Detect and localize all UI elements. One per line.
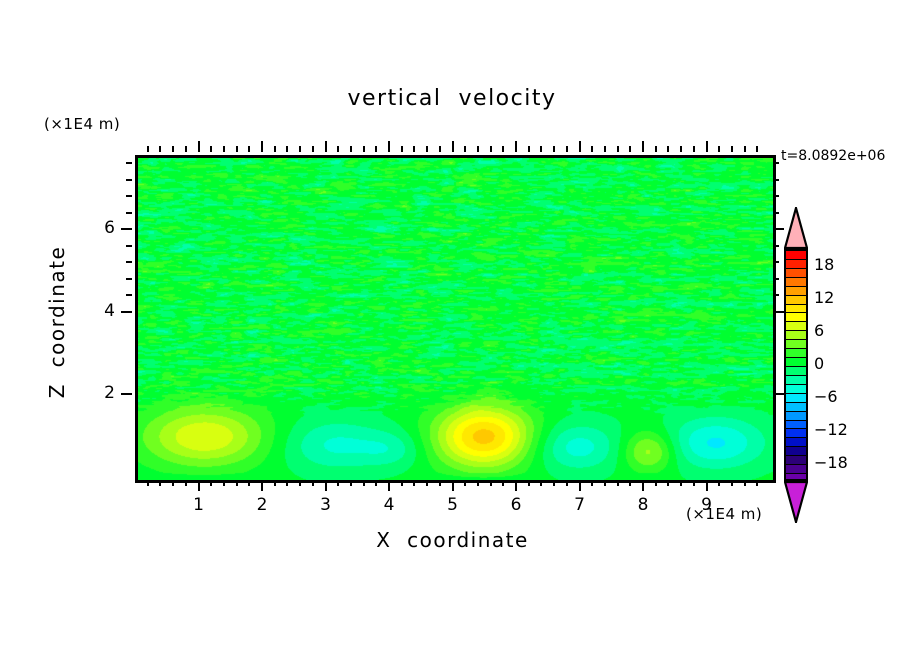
x-axis-minor-tick-top bbox=[464, 146, 466, 152]
x-axis-minor-tick-top bbox=[363, 146, 365, 152]
colorbar-band bbox=[786, 394, 806, 403]
x-axis-tick bbox=[198, 480, 200, 491]
x-axis-minor-tick-top bbox=[502, 146, 504, 152]
x-axis-tick-top bbox=[706, 141, 708, 152]
y-axis-tick-label: 4 bbox=[81, 301, 115, 321]
y-axis-tick bbox=[121, 393, 132, 395]
y-axis-minor-tick bbox=[126, 294, 132, 296]
x-axis-minor-tick bbox=[502, 480, 504, 486]
y-axis-minor-tick-right bbox=[773, 212, 779, 214]
x-axis-minor-tick-top bbox=[528, 146, 530, 152]
colorbar-band bbox=[786, 269, 806, 278]
x-axis-minor-tick-top bbox=[667, 146, 669, 152]
x-axis-minor-tick bbox=[566, 480, 568, 486]
x-axis-tick bbox=[452, 480, 454, 491]
y-axis-minor-tick-right bbox=[773, 179, 779, 181]
x-axis-tick bbox=[706, 480, 708, 491]
x-axis-minor-tick bbox=[274, 480, 276, 486]
x-axis-tick bbox=[261, 480, 263, 491]
x-axis-minor-tick-top bbox=[185, 146, 187, 152]
y-axis-minor-tick bbox=[126, 212, 132, 214]
x-axis-minor-tick bbox=[236, 480, 238, 486]
x-axis-minor-tick-top bbox=[680, 146, 682, 152]
x-axis-minor-tick-top bbox=[210, 146, 212, 152]
x-axis-minor-tick-top bbox=[147, 146, 149, 152]
x-axis-minor-tick bbox=[426, 480, 428, 486]
colorbar: 181260−6−12−18 bbox=[780, 205, 904, 525]
colorbar-band bbox=[786, 322, 806, 331]
colorbar-band bbox=[786, 251, 806, 260]
x-axis-tick-label: 3 bbox=[306, 495, 346, 515]
x-axis-minor-tick-top bbox=[274, 146, 276, 152]
x-axis-tick-label: 7 bbox=[560, 495, 600, 515]
x-axis-tick bbox=[325, 480, 327, 491]
x-axis-minor-tick-top bbox=[413, 146, 415, 152]
x-axis-tick bbox=[515, 480, 517, 491]
x-axis-tick bbox=[579, 480, 581, 491]
x-axis-tick-label: 9 bbox=[687, 495, 727, 515]
colorbar-band bbox=[786, 260, 806, 269]
y-axis-title: Z coordinate bbox=[45, 242, 69, 402]
x-axis-title: X coordinate bbox=[135, 528, 770, 552]
x-axis-tick-top bbox=[579, 141, 581, 152]
x-axis-tick-label: 6 bbox=[496, 495, 536, 515]
y-axis-minor-tick bbox=[126, 245, 132, 247]
x-axis-minor-tick-top bbox=[756, 146, 758, 152]
x-axis-tick-top bbox=[642, 141, 644, 152]
x-axis-minor-tick-top bbox=[401, 146, 403, 152]
x-axis-minor-tick bbox=[731, 480, 733, 486]
x-axis-minor-tick-top bbox=[236, 146, 238, 152]
x-axis-tick-label: 2 bbox=[242, 495, 282, 515]
x-axis-minor-tick bbox=[756, 480, 758, 486]
x-axis-tick-top bbox=[261, 141, 263, 152]
colorbar-band bbox=[786, 331, 806, 340]
x-axis-minor-tick bbox=[591, 480, 593, 486]
y-axis-minor-tick bbox=[126, 261, 132, 263]
colorbar-band bbox=[786, 296, 806, 305]
x-axis-minor-tick bbox=[413, 480, 415, 486]
velocity-field-heatmap bbox=[138, 158, 773, 480]
x-axis-minor-tick-top bbox=[299, 146, 301, 152]
x-axis-minor-tick bbox=[248, 480, 250, 486]
x-axis-minor-tick bbox=[667, 480, 669, 486]
colorbar-band bbox=[786, 474, 806, 481]
y-axis-minor-tick-right bbox=[773, 261, 779, 263]
x-axis-minor-tick-top bbox=[286, 146, 288, 152]
y-axis-tick-label: 6 bbox=[81, 218, 115, 238]
y-axis-minor-tick-right bbox=[773, 245, 779, 247]
x-axis-minor-tick bbox=[223, 480, 225, 486]
page-title: vertical velocity bbox=[0, 86, 904, 111]
x-axis-tick-top bbox=[388, 141, 390, 152]
x-axis-minor-tick-top bbox=[566, 146, 568, 152]
y-axis-unit-label: (×1E4 m) bbox=[44, 115, 120, 133]
x-axis-minor-tick bbox=[363, 480, 365, 486]
x-axis-tick-top bbox=[198, 141, 200, 152]
y-axis-minor-tick bbox=[126, 278, 132, 280]
colorbar-tick-label: −6 bbox=[814, 387, 838, 406]
x-axis-tick-top bbox=[452, 141, 454, 152]
x-axis-minor-tick-top bbox=[350, 146, 352, 152]
x-axis-minor-tick-top bbox=[655, 146, 657, 152]
x-axis-minor-tick bbox=[210, 480, 212, 486]
colorbar-band bbox=[786, 421, 806, 430]
x-axis-minor-tick bbox=[299, 480, 301, 486]
x-axis-minor-tick-top bbox=[693, 146, 695, 152]
x-axis-minor-tick-top bbox=[248, 146, 250, 152]
colorbar-band bbox=[786, 287, 806, 296]
x-axis-minor-tick bbox=[172, 480, 174, 486]
colorbar-band bbox=[786, 358, 806, 367]
x-axis-minor-tick-top bbox=[744, 146, 746, 152]
y-axis-minor-tick-right bbox=[773, 195, 779, 197]
y-axis-minor-tick bbox=[126, 162, 132, 164]
x-axis-minor-tick bbox=[680, 480, 682, 486]
colorbar-band bbox=[786, 429, 806, 438]
colorbar-band bbox=[786, 376, 806, 385]
colorbar-over-arrow-icon bbox=[784, 207, 808, 249]
colorbar-band bbox=[786, 456, 806, 465]
x-axis-minor-tick bbox=[286, 480, 288, 486]
x-axis-minor-tick-top bbox=[629, 146, 631, 152]
colorbar-band bbox=[786, 305, 806, 314]
y-axis-minor-tick bbox=[126, 195, 132, 197]
colorbar-band bbox=[786, 403, 806, 412]
x-axis-tick bbox=[388, 480, 390, 491]
x-axis-minor-tick-top bbox=[591, 146, 593, 152]
x-axis-minor-tick-top bbox=[439, 146, 441, 152]
colorbar-tick-label: 18 bbox=[814, 255, 834, 274]
colorbar-band bbox=[786, 385, 806, 394]
x-axis-minor-tick-top bbox=[553, 146, 555, 152]
y-axis-tick bbox=[121, 228, 132, 230]
x-axis-minor-tick bbox=[744, 480, 746, 486]
x-axis-minor-tick bbox=[528, 480, 530, 486]
x-axis-minor-tick-top bbox=[312, 146, 314, 152]
colorbar-tick-label: −12 bbox=[814, 420, 848, 439]
x-axis-minor-tick bbox=[375, 480, 377, 486]
x-axis-tick-label: 4 bbox=[369, 495, 409, 515]
time-annotation: t=8.0892e+06 bbox=[781, 148, 885, 164]
colorbar-tick-label: −18 bbox=[814, 453, 848, 472]
x-axis-minor-tick bbox=[655, 480, 657, 486]
y-axis-minor-tick-right bbox=[773, 278, 779, 280]
y-axis-tick-label: 2 bbox=[81, 383, 115, 403]
contour-plot-area bbox=[135, 155, 776, 483]
x-axis-minor-tick bbox=[490, 480, 492, 486]
x-axis-minor-tick-top bbox=[540, 146, 542, 152]
colorbar-band bbox=[786, 465, 806, 474]
x-axis-minor-tick-top bbox=[477, 146, 479, 152]
colorbar-band bbox=[786, 313, 806, 322]
x-axis-minor-tick bbox=[718, 480, 720, 486]
colorbar-band bbox=[786, 412, 806, 421]
x-axis-minor-tick bbox=[185, 480, 187, 486]
x-axis-tick-top bbox=[515, 141, 517, 152]
x-axis-tick-label: 5 bbox=[433, 495, 473, 515]
x-axis-minor-tick-top bbox=[718, 146, 720, 152]
y-axis-minor-tick-right bbox=[773, 294, 779, 296]
x-axis-minor-tick bbox=[439, 480, 441, 486]
colorbar-bands bbox=[784, 249, 808, 481]
x-axis-minor-tick-top bbox=[426, 146, 428, 152]
x-axis-minor-tick bbox=[159, 480, 161, 486]
x-axis-minor-tick-top bbox=[337, 146, 339, 152]
colorbar-tick-label: 12 bbox=[814, 288, 834, 307]
x-axis-minor-tick-top bbox=[375, 146, 377, 152]
y-axis-tick bbox=[121, 311, 132, 313]
x-axis-minor-tick bbox=[337, 480, 339, 486]
x-axis-minor-tick-top bbox=[490, 146, 492, 152]
x-axis-minor-tick bbox=[477, 480, 479, 486]
colorbar-tick-label: 6 bbox=[814, 321, 824, 340]
x-axis-minor-tick-top bbox=[604, 146, 606, 152]
x-axis-minor-tick-top bbox=[172, 146, 174, 152]
x-axis-minor-tick bbox=[464, 480, 466, 486]
colorbar-tick-label: 0 bbox=[814, 354, 824, 373]
colorbar-band bbox=[786, 349, 806, 358]
colorbar-band bbox=[786, 447, 806, 456]
colorbar-band bbox=[786, 340, 806, 349]
x-axis-minor-tick bbox=[401, 480, 403, 486]
colorbar-band bbox=[786, 278, 806, 287]
x-axis-minor-tick bbox=[350, 480, 352, 486]
x-axis-minor-tick-top bbox=[223, 146, 225, 152]
x-axis-minor-tick bbox=[629, 480, 631, 486]
colorbar-band bbox=[786, 438, 806, 447]
x-axis-minor-tick bbox=[553, 480, 555, 486]
x-axis-minor-tick bbox=[312, 480, 314, 486]
x-axis-tick-top bbox=[325, 141, 327, 152]
x-axis-minor-tick-top bbox=[731, 146, 733, 152]
y-axis-minor-tick bbox=[126, 179, 132, 181]
x-axis-minor-tick-top bbox=[617, 146, 619, 152]
x-axis-minor-tick bbox=[540, 480, 542, 486]
x-axis-minor-tick bbox=[604, 480, 606, 486]
colorbar-under-arrow-icon bbox=[784, 481, 808, 523]
x-axis-minor-tick bbox=[693, 480, 695, 486]
colorbar-band bbox=[786, 367, 806, 376]
x-axis-tick-label: 1 bbox=[179, 495, 219, 515]
x-axis-tick-label: 8 bbox=[623, 495, 663, 515]
y-axis-minor-tick-right bbox=[773, 162, 779, 164]
x-axis-tick bbox=[642, 480, 644, 491]
x-axis-minor-tick bbox=[147, 480, 149, 486]
x-axis-minor-tick bbox=[617, 480, 619, 486]
x-axis-minor-tick-top bbox=[159, 146, 161, 152]
figure-canvas: vertical velocity (×1E4 m) (×1E4 m) Z co… bbox=[0, 0, 904, 654]
